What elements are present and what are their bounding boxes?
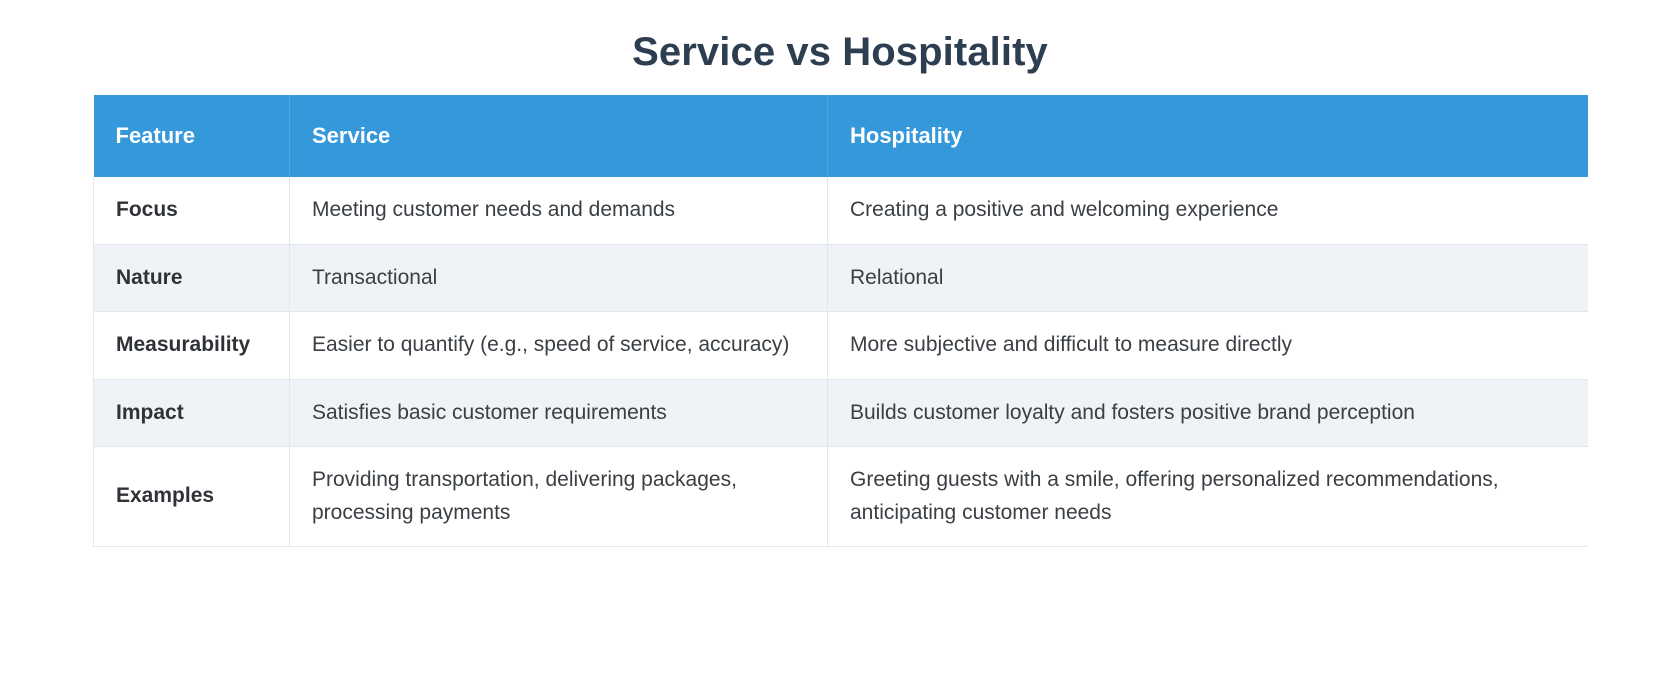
table-container: Feature Service Hospitality Focus Meetin… — [93, 74, 1587, 547]
table-header: Feature Service Hospitality — [94, 95, 1588, 177]
cell-service: Easier to quantify (e.g., speed of servi… — [290, 312, 828, 380]
cell-hospitality: Relational — [828, 244, 1588, 312]
cell-service: Meeting customer needs and demands — [290, 177, 828, 244]
cell-hospitality: Builds customer loyalty and fosters posi… — [828, 379, 1588, 447]
cell-hospitality: Creating a positive and welcoming experi… — [828, 177, 1588, 244]
cell-feature: Focus — [94, 177, 290, 244]
table-row: Measurability Easier to quantify (e.g., … — [94, 312, 1588, 380]
page-title: Service vs Hospitality — [0, 0, 1680, 74]
table-row: Examples Providing transportation, deliv… — [94, 447, 1588, 547]
column-header-feature[interactable]: Feature — [94, 95, 290, 177]
table-row: Impact Satisfies basic customer requirem… — [94, 379, 1588, 447]
cell-feature: Examples — [94, 447, 290, 547]
cell-service: Transactional — [290, 244, 828, 312]
cell-feature: Measurability — [94, 312, 290, 380]
column-header-hospitality[interactable]: Hospitality — [828, 95, 1588, 177]
column-header-service[interactable]: Service — [290, 95, 828, 177]
cell-hospitality: More subjective and difficult to measure… — [828, 312, 1588, 380]
comparison-page: Service vs Hospitality Feature Service H… — [0, 0, 1680, 698]
table-body: Focus Meeting customer needs and demands… — [94, 177, 1588, 547]
cell-feature: Impact — [94, 379, 290, 447]
cell-service: Satisfies basic customer requirements — [290, 379, 828, 447]
table-row: Nature Transactional Relational — [94, 244, 1588, 312]
table-row: Focus Meeting customer needs and demands… — [94, 177, 1588, 244]
cell-hospitality: Greeting guests with a smile, offering p… — [828, 447, 1588, 547]
cell-service: Providing transportation, delivering pac… — [290, 447, 828, 547]
cell-feature: Nature — [94, 244, 290, 312]
table-header-row: Feature Service Hospitality — [94, 95, 1588, 177]
comparison-table: Feature Service Hospitality Focus Meetin… — [93, 95, 1588, 547]
